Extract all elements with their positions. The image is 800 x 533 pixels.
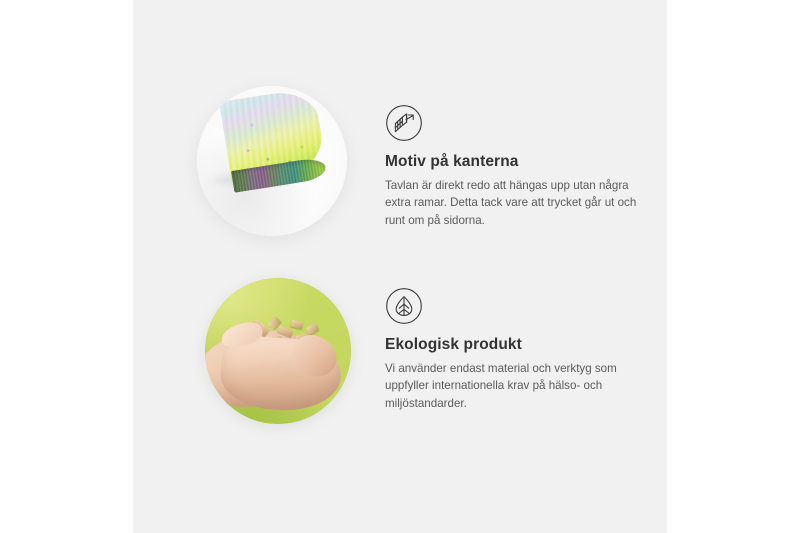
- canvas-wrapped-edges-icon: [385, 104, 423, 142]
- leaf-icon: [385, 287, 423, 325]
- feature-title: Ekologisk produkt: [385, 336, 657, 355]
- feature-title: Motiv på kanterna: [385, 153, 657, 172]
- hands-with-wood-chips-photo: [205, 278, 351, 424]
- feature-copy-wrapped-edges: Motiv på kanterna Tavlan är direkt redo …: [385, 104, 657, 229]
- feature-description: Vi använder endast material och verktyg …: [385, 360, 647, 413]
- canvas-corner-object: [219, 87, 329, 197]
- product-info-banner: Motiv på kanterna Tavlan är direkt redo …: [0, 0, 800, 533]
- feature-description: Tavlan är direkt redo att hängas upp uta…: [385, 177, 647, 230]
- feature-item-wrapped-edges: Motiv på kanterna Tavlan är direkt redo …: [133, 72, 667, 262]
- feature-copy-eco-product: Ekologisk produkt Vi använder endast mat…: [385, 287, 657, 412]
- feature-list: Motiv på kanterna Tavlan är direkt redo …: [133, 0, 667, 533]
- canvas-corner-photo: [197, 86, 347, 236]
- feature-item-eco-product: Ekologisk produkt Vi använder endast mat…: [133, 265, 667, 440]
